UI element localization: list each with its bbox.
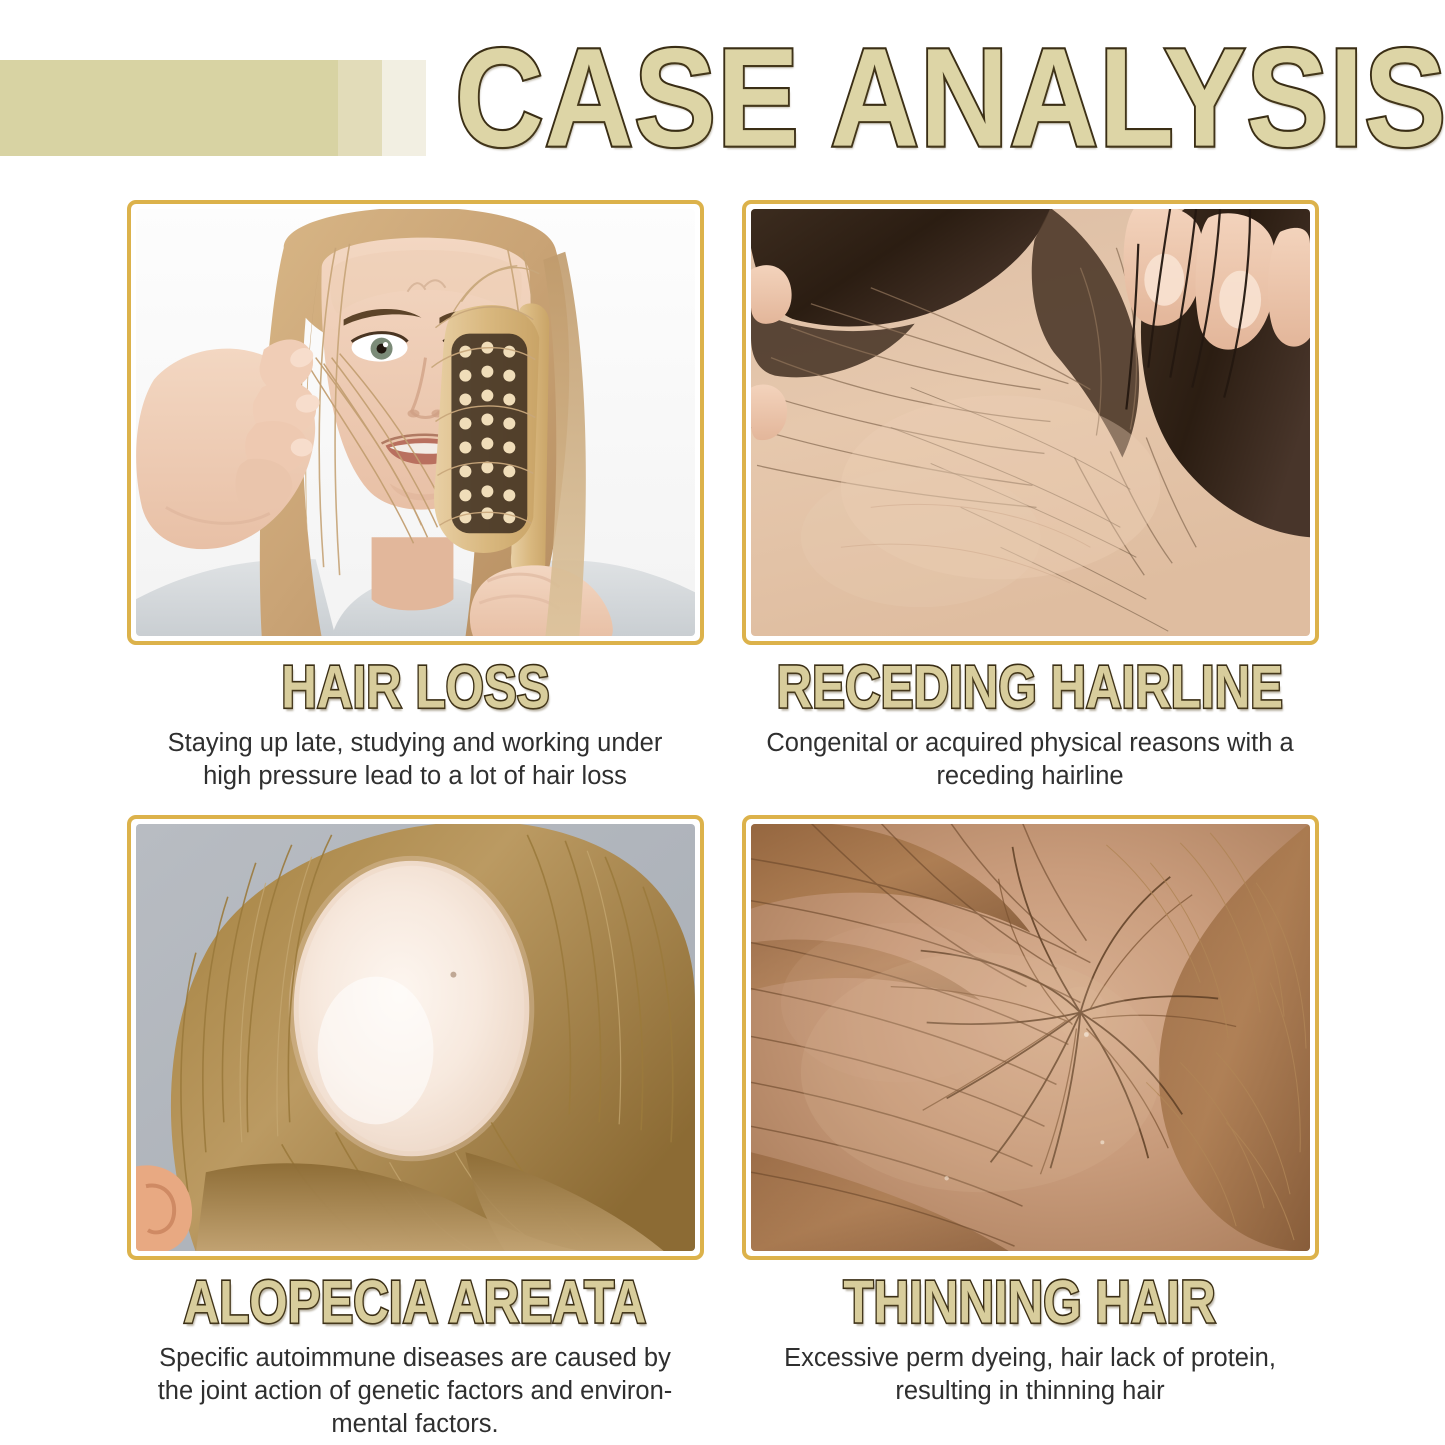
case-caption-hair-loss: Staying up late, studying and working un… xyxy=(143,727,688,793)
case-title-thinning-hair: THINNING HAIR xyxy=(844,1272,1216,1332)
photo-hair-loss xyxy=(136,209,695,636)
case-title-hair-loss: HAIR LOSS xyxy=(281,657,549,717)
decorative-swatch-bar xyxy=(0,60,426,156)
photo-alopecia-areata xyxy=(136,824,695,1251)
photo-frame-alopecia-areata xyxy=(127,815,704,1260)
swatch-cream xyxy=(382,60,426,156)
receding-hairline-illustration xyxy=(751,209,1310,636)
swatch-light-khaki xyxy=(338,60,382,156)
page-title: CASE ANALYSIS xyxy=(455,28,1218,168)
photo-receding-hairline xyxy=(751,209,1310,636)
case-caption-thinning-hair: Excessive perm dyeing, hair lack of prot… xyxy=(758,1342,1303,1408)
photo-frame-thinning-hair xyxy=(742,815,1319,1260)
thinning-hair-illustration xyxy=(751,824,1310,1251)
alopecia-areata-illustration xyxy=(136,824,695,1251)
photo-thinning-hair xyxy=(751,824,1310,1251)
photo-frame-receding-hairline xyxy=(742,200,1319,645)
case-card-receding-hairline[interactable]: RECEDING HAIRLINE Congenital or acquired… xyxy=(742,200,1319,793)
swatch-khaki xyxy=(0,60,338,156)
page-header: CASE ANALYSIS xyxy=(0,0,1445,180)
row-spacer xyxy=(0,793,1445,815)
photo-frame-hair-loss xyxy=(127,200,704,645)
hair-loss-illustration xyxy=(136,209,695,636)
case-row-2: ALOPECIA AREATA Specific autoimmune dise… xyxy=(0,815,1445,1441)
case-title-receding-hairline: RECEDING HAIRLINE xyxy=(777,657,1284,717)
case-caption-alopecia-areata: Specific autoimmune diseases are caused … xyxy=(143,1342,688,1441)
case-card-thinning-hair[interactable]: THINNING HAIR Excessive perm dyeing, hai… xyxy=(742,815,1319,1441)
case-card-alopecia-areata[interactable]: ALOPECIA AREATA Specific autoimmune dise… xyxy=(127,815,704,1441)
case-card-hair-loss[interactable]: HAIR LOSS Staying up late, studying and … xyxy=(127,200,704,793)
case-grid: HAIR LOSS Staying up late, studying and … xyxy=(0,200,1445,1441)
case-title-alopecia-areata: ALOPECIA AREATA xyxy=(184,1272,647,1332)
case-caption-receding-hairline: Congenital or acquired physical reasons … xyxy=(758,727,1303,793)
case-row-1: HAIR LOSS Staying up late, studying and … xyxy=(0,200,1445,793)
